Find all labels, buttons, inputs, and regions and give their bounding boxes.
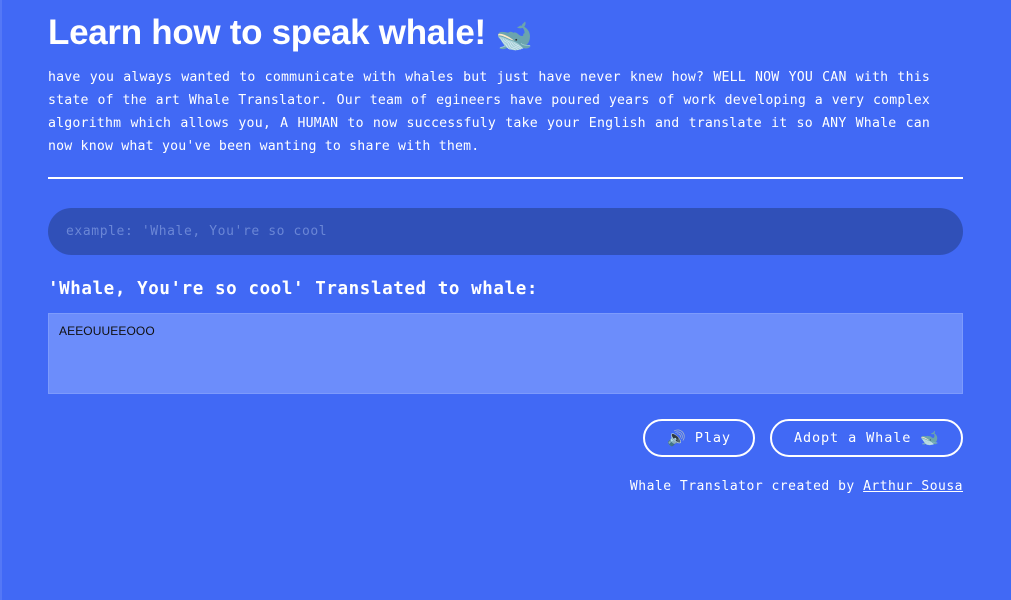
translation-output-text: AEEOUUEEOOO bbox=[59, 323, 952, 339]
translate-input-wrapper bbox=[48, 208, 964, 255]
play-button-label: Play bbox=[695, 430, 731, 446]
page-content: Learn how to speak whale!🐋 have you alwa… bbox=[48, 0, 964, 494]
speaker-icon: 🔊 bbox=[667, 431, 686, 446]
author-link[interactable]: Arthur Sousa bbox=[863, 479, 963, 494]
page-title-text: Learn how to speak whale! bbox=[48, 13, 486, 52]
play-button[interactable]: 🔊 Play bbox=[643, 419, 755, 457]
action-button-row: 🔊 Play Adopt a Whale 🐋 bbox=[48, 419, 963, 457]
left-edge-divider bbox=[0, 0, 2, 600]
page-title: Learn how to speak whale!🐋 bbox=[48, 0, 964, 60]
adopt-button-label: Adopt a Whale bbox=[794, 430, 911, 446]
whale-emoji: 🐋 bbox=[496, 19, 533, 54]
intro-paragraph: have you always wanted to communicate wi… bbox=[48, 66, 930, 158]
credit-line: Whale Translator created by Arthur Sousa bbox=[48, 479, 963, 494]
translation-output-box: AEEOUUEEOOO bbox=[48, 313, 963, 394]
app-root: Learn how to speak whale!🐋 have you alwa… bbox=[0, 0, 1011, 600]
whale-icon: 🐋 bbox=[920, 431, 939, 446]
credit-prefix: Whale Translator created by bbox=[630, 479, 855, 494]
adopt-a-whale-button[interactable]: Adopt a Whale 🐋 bbox=[770, 419, 963, 457]
section-divider bbox=[48, 177, 963, 179]
result-heading: 'Whale, You're so cool' Translated to wh… bbox=[48, 277, 964, 301]
translate-input[interactable] bbox=[48, 208, 963, 255]
